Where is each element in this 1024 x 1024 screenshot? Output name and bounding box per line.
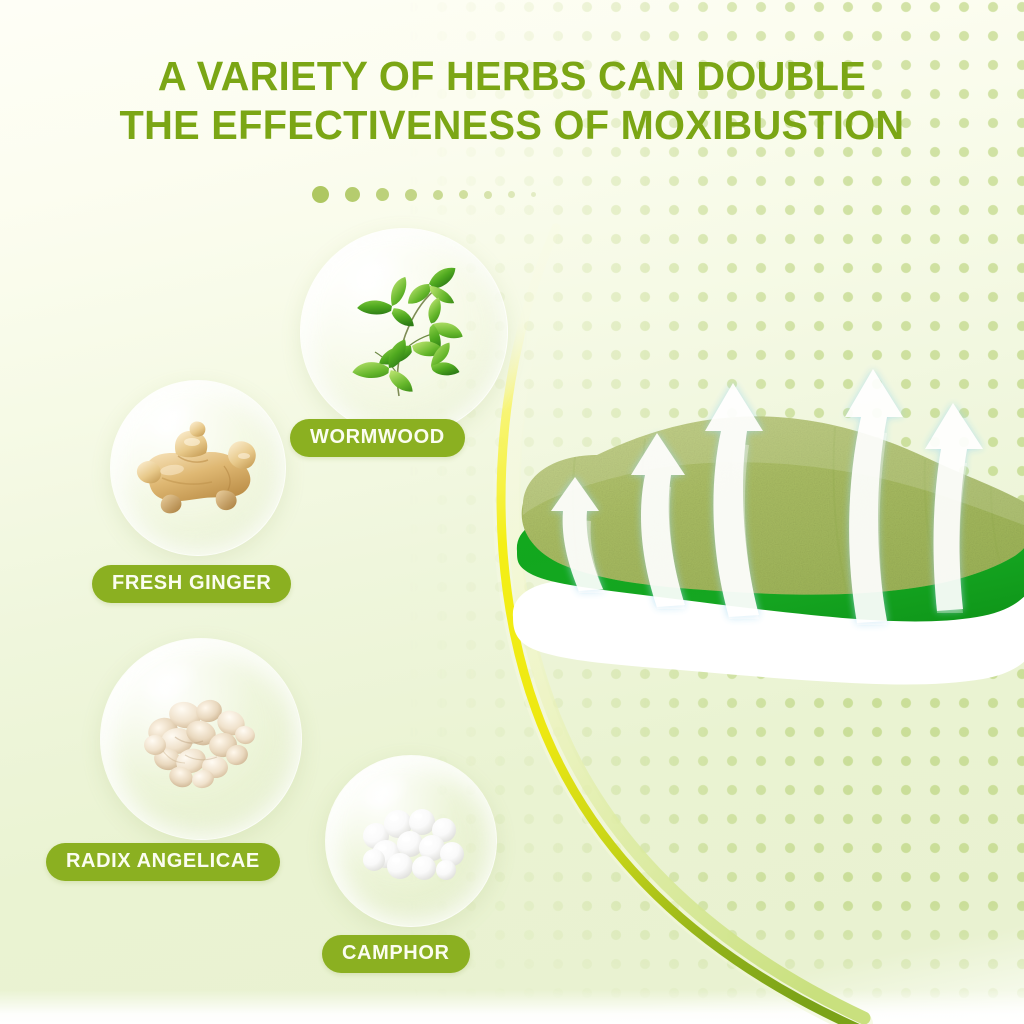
camphor-balls-icon (326, 756, 496, 926)
ingredient-bubble-camphor[interactable] (325, 755, 497, 927)
ingredient-bubble-fresh-ginger[interactable] (110, 380, 286, 556)
ingredient-label-camphor: CAMPHOR (322, 935, 470, 973)
wormwood-sprig-icon (301, 229, 507, 435)
decorative-dot-1 (312, 186, 329, 203)
decorative-dot-2 (345, 187, 360, 202)
angelica-root-slices-icon (101, 639, 301, 839)
ingredient-label-wormwood: WORMWOOD (290, 419, 465, 457)
ingredient-bubble-radix-angelicae[interactable] (100, 638, 302, 840)
ingredient-label-radix-angelicae: RADIX ANGELICAE (46, 843, 280, 881)
decorative-dot-3 (376, 188, 389, 201)
decorative-dot-4 (405, 189, 417, 201)
page-title: A VARIETY OF HERBS CAN DOUBLE THE EFFECT… (0, 52, 1024, 150)
ingredient-bubble-wormwood[interactable] (300, 228, 508, 436)
decorative-dot-8 (508, 191, 515, 198)
decorative-dot-6 (459, 190, 468, 199)
decorative-dot-row (312, 186, 536, 203)
infographic-canvas: A VARIETY OF HERBS CAN DOUBLE THE EFFECT… (0, 0, 1024, 1024)
decorative-dot-9 (531, 192, 536, 197)
ginger-root-icon (111, 381, 285, 555)
moxibustion-patch-illustration (505, 355, 1024, 785)
title-line-2: THE EFFECTIVENESS OF MOXIBUSTION (15, 101, 1008, 150)
ingredient-label-fresh-ginger: FRESH GINGER (92, 565, 291, 603)
bottom-fade-strip (0, 990, 1024, 1024)
title-line-1: A VARIETY OF HERBS CAN DOUBLE (15, 52, 1008, 101)
decorative-dot-5 (433, 190, 443, 200)
decorative-dot-7 (484, 191, 492, 199)
